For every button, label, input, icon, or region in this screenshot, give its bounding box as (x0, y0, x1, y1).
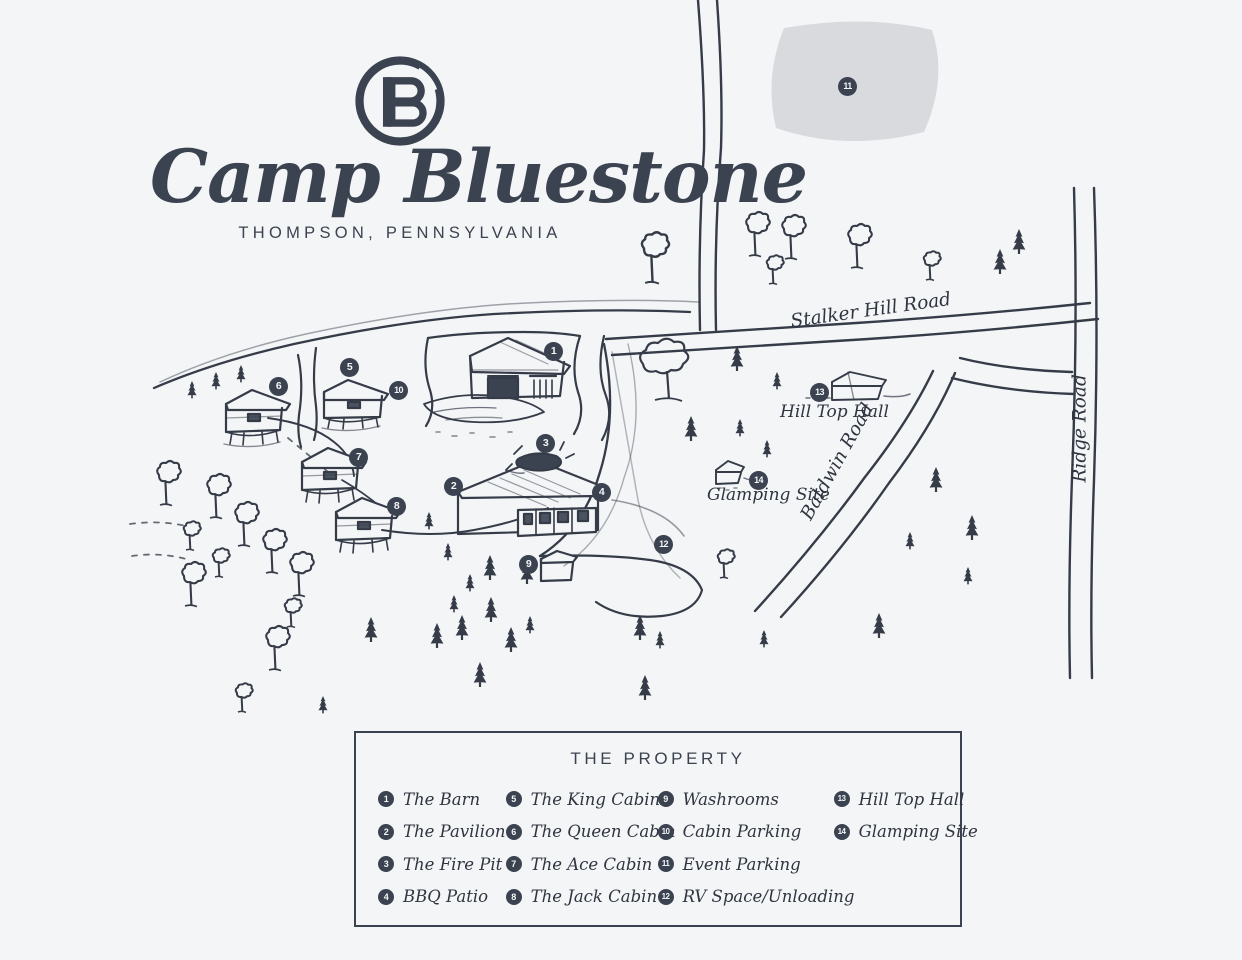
legend-item-hill-top-hall[interactable]: 13 Hill Top Hall (834, 783, 974, 816)
map-marker-hill-top-hall[interactable]: 13 (810, 383, 829, 402)
legend-number-badge: 14 (834, 824, 850, 840)
legend-number-badge: 1 (378, 791, 394, 807)
legend-item-label: Cabin Parking (683, 822, 802, 841)
map-marker-bbq-patio[interactable]: 4 (592, 483, 611, 502)
legend-column-3: 9 Washrooms 10 Cabin Parking 11 Event Pa… (658, 783, 834, 913)
legend-item-rv-space-unloading[interactable]: 12 RV Space/Unloading (658, 881, 834, 914)
legend-number-badge: 13 (834, 791, 850, 807)
map-marker-the-fire-pit[interactable]: 3 (536, 434, 555, 453)
legend-item-label: The Queen Cabin (531, 822, 676, 841)
map-marker-the-ace-cabin[interactable]: 7 (349, 448, 368, 467)
legend-item-label: The Pavilion (403, 822, 506, 841)
legend-number-badge: 4 (378, 889, 394, 905)
legend-item-the-ace-cabin[interactable]: 7 The Ace Cabin (506, 848, 658, 881)
map-marker-rv-space-unloading[interactable]: 12 (654, 535, 673, 554)
ridge-road-label: Ridge Road (1070, 374, 1091, 482)
legend-item-event-parking[interactable]: 11 Event Parking (658, 848, 834, 881)
page-title: Camp Bluestone (150, 143, 650, 212)
brand-block: Camp Bluestone THOMPSON, PENNSYLVANIA (150, 55, 650, 243)
map-marker-washrooms[interactable]: 9 (519, 555, 538, 574)
legend-number-badge: 12 (658, 889, 674, 905)
legend-number-badge: 9 (658, 791, 674, 807)
legend-panel: THE PROPERTY 1 The Barn 2 The Pavilion 3… (354, 731, 962, 927)
glamping-site-label: Glamping Site (707, 485, 830, 505)
hill-top-hall-label: Hill Top Hall (780, 402, 889, 422)
legend-number-badge: 7 (506, 856, 522, 872)
legend-number-badge: 2 (378, 824, 394, 840)
map-marker-cabin-parking[interactable]: 10 (389, 381, 408, 400)
legend-item-washrooms[interactable]: 9 Washrooms (658, 783, 834, 816)
location-subtitle: THOMPSON, PENNSYLVANIA (150, 224, 650, 243)
legend-item-label: The King Cabin (531, 790, 661, 809)
legend-item-label: RV Space/Unloading (683, 887, 855, 906)
legend-item-glamping-site[interactable]: 14 Glamping Site (834, 816, 974, 849)
legend-number-badge: 8 (506, 889, 522, 905)
legend-item-label: BBQ Patio (403, 887, 488, 906)
legend-item-the-queen-cabin[interactable]: 6 The Queen Cabin (506, 816, 658, 849)
legend-number-badge: 3 (378, 856, 394, 872)
legend-number-badge: 11 (658, 856, 674, 872)
legend-item-the-pavilion[interactable]: 2 The Pavilion (378, 816, 506, 849)
map-marker-the-jack-cabin[interactable]: 8 (387, 497, 406, 516)
legend-item-the-barn[interactable]: 1 The Barn (378, 783, 506, 816)
legend-column-2: 5 The King Cabin 6 The Queen Cabin 7 The… (506, 783, 658, 913)
map-marker-event-parking[interactable]: 11 (838, 77, 857, 96)
legend-item-label: The Fire Pit (403, 855, 502, 874)
legend-item-label: The Jack Cabin (531, 887, 658, 906)
map-marker-glamping-site[interactable]: 14 (749, 471, 768, 490)
legend-item-label: Glamping Site (859, 822, 978, 841)
legend-item-cabin-parking[interactable]: 10 Cabin Parking (658, 816, 834, 849)
legend-item-the-jack-cabin[interactable]: 8 The Jack Cabin (506, 881, 658, 914)
legend-item-label: Hill Top Hall (859, 790, 965, 809)
camp-bluestone-property-map: Camp Bluestone THOMPSON, PENNSYLVANIA St… (0, 0, 1242, 960)
legend-item-the-king-cabin[interactable]: 5 The King Cabin (506, 783, 658, 816)
legend-column-4: 13 Hill Top Hall 14 Glamping Site (834, 783, 974, 913)
legend-number-badge: 5 (506, 791, 522, 807)
legend-item-label: Washrooms (683, 790, 779, 809)
legend-column-1: 1 The Barn 2 The Pavilion 3 The Fire Pit… (378, 783, 506, 913)
legend-title: THE PROPERTY (356, 749, 960, 769)
map-marker-the-pavilion[interactable]: 2 (444, 477, 463, 496)
map-marker-the-queen-cabin[interactable]: 6 (269, 377, 288, 396)
legend-columns: 1 The Barn 2 The Pavilion 3 The Fire Pit… (356, 783, 960, 913)
legend-item-label: The Ace Cabin (531, 855, 653, 874)
map-marker-the-barn[interactable]: 1 (544, 342, 563, 361)
legend-number-badge: 10 (658, 824, 674, 840)
legend-item-label: The Barn (403, 790, 480, 809)
legend-item-bbq-patio[interactable]: 4 BBQ Patio (378, 881, 506, 914)
legend-item-the-fire-pit[interactable]: 3 The Fire Pit (378, 848, 506, 881)
legend-item-label: Event Parking (683, 855, 801, 874)
map-marker-the-king-cabin[interactable]: 5 (340, 358, 359, 377)
legend-number-badge: 6 (506, 824, 522, 840)
